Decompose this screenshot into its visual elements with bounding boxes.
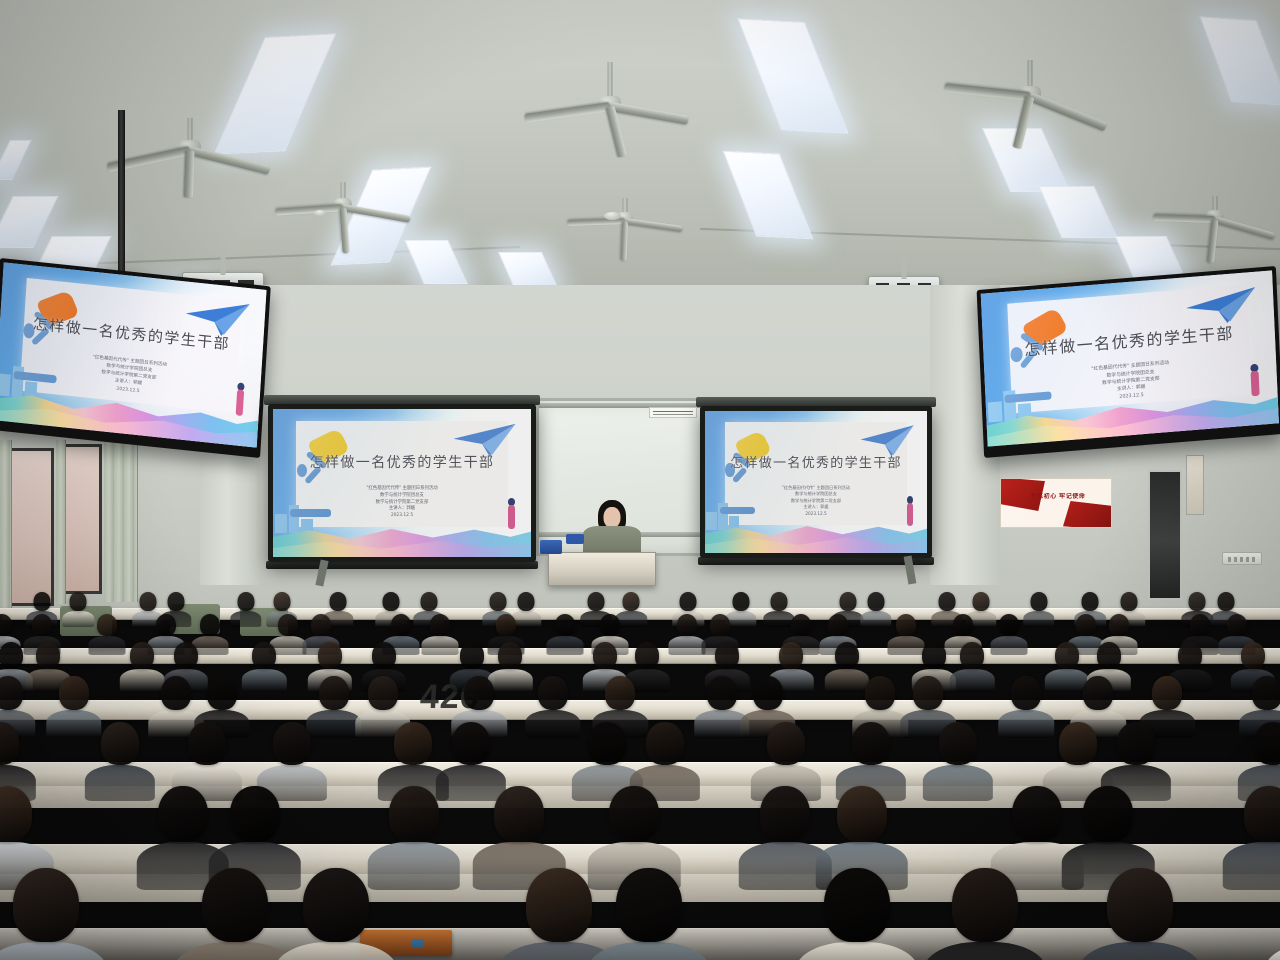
audience-shoulders	[230, 611, 261, 627]
audience-head	[273, 592, 290, 611]
audience-head	[1152, 676, 1182, 710]
audience-head	[139, 592, 156, 611]
audience-head	[1059, 722, 1097, 765]
audience-member	[669, 614, 706, 655]
audience-shoulders	[991, 636, 1028, 655]
audience-head	[0, 676, 23, 710]
audience-head	[97, 614, 117, 636]
audience-shoulders	[923, 765, 993, 801]
audience-head	[13, 868, 79, 942]
audience-head	[1012, 786, 1062, 842]
audience-head	[33, 592, 50, 611]
audience-head	[430, 614, 450, 636]
audience-head	[1011, 676, 1041, 710]
audience-member	[924, 868, 1046, 960]
audience-head	[867, 592, 884, 611]
audience-head	[616, 868, 682, 942]
audience-head	[538, 676, 568, 710]
audience-head	[278, 614, 298, 636]
audience-head	[1252, 676, 1280, 710]
audience-head	[1082, 592, 1099, 611]
audience-head	[0, 786, 32, 842]
audience-member	[588, 868, 710, 960]
audience-member	[991, 614, 1028, 655]
audience-head	[391, 614, 411, 636]
audience-head	[837, 786, 887, 842]
audience-head	[319, 676, 349, 710]
audience-head	[835, 642, 859, 669]
audience-head	[605, 676, 635, 710]
audience-shoulders	[1265, 942, 1280, 960]
audience-head	[202, 868, 268, 942]
audience-head	[952, 868, 1018, 942]
audience-head	[273, 722, 311, 765]
audience-head	[494, 786, 544, 842]
audience-member	[1079, 868, 1201, 960]
audience-head	[1109, 614, 1129, 636]
audience-head	[452, 722, 490, 765]
audience-head	[593, 642, 617, 669]
audience-head	[101, 722, 139, 765]
audience-head	[318, 642, 342, 669]
audience-head	[1076, 614, 1096, 636]
audience-head	[0, 642, 23, 669]
audience-head	[311, 614, 331, 636]
audience-head	[130, 642, 154, 669]
audience-shoulders	[950, 669, 994, 692]
audience-head	[158, 786, 208, 842]
audience-head	[972, 592, 989, 611]
audience-head	[372, 642, 396, 669]
audience-head	[1241, 642, 1265, 669]
audience-head	[420, 592, 437, 611]
audience-head	[174, 642, 198, 669]
audience-head	[771, 592, 788, 611]
audience-head	[0, 722, 19, 765]
audience-head	[1189, 592, 1206, 611]
audience-head	[680, 592, 697, 611]
audience-head	[161, 676, 191, 710]
audience-head	[238, 592, 255, 611]
audience-head	[1121, 592, 1138, 611]
audience-head	[588, 592, 605, 611]
audience-head	[609, 786, 659, 842]
audience-head	[1107, 868, 1173, 942]
audience-shoulders	[275, 942, 397, 960]
audience-head	[59, 676, 89, 710]
audience-head	[1254, 722, 1280, 765]
audience-head	[252, 642, 276, 669]
audience-head	[999, 614, 1019, 636]
audience-head	[517, 592, 534, 611]
audience-head	[824, 868, 890, 942]
audience-member	[923, 722, 993, 801]
audience-head	[1227, 614, 1247, 636]
audience-head	[779, 642, 803, 669]
audience-head	[496, 614, 516, 636]
audience-head	[953, 614, 973, 636]
audience-head	[635, 642, 659, 669]
audience-head	[588, 722, 626, 765]
audience-head	[188, 722, 226, 765]
audience-head	[938, 592, 955, 611]
audience-head	[939, 722, 977, 765]
audience-head	[1117, 722, 1155, 765]
audience-head	[303, 868, 369, 942]
audience-head	[1083, 786, 1133, 842]
audience-member	[950, 642, 994, 692]
audience-head	[167, 592, 184, 611]
audience-head	[464, 676, 494, 710]
audience-head	[460, 642, 484, 669]
audience-head	[677, 614, 697, 636]
audience-head	[1217, 592, 1234, 611]
audience-head	[70, 592, 87, 611]
audience-head	[710, 614, 730, 636]
audience-head	[200, 614, 220, 636]
audience-head	[1083, 676, 1113, 710]
audience-head	[383, 592, 400, 611]
audience-head	[1055, 642, 1079, 669]
audience-head	[767, 722, 805, 765]
audience-member	[230, 592, 261, 627]
audience-head	[760, 786, 810, 842]
audience-shoulders	[669, 636, 706, 655]
audience-head	[646, 722, 684, 765]
audience-head	[156, 614, 176, 636]
audience-head	[896, 614, 916, 636]
audience-head	[753, 676, 783, 710]
audience-head	[715, 642, 739, 669]
lecture-hall-photo: 不忘初心 牢记使命 怎样做一名优秀的学生干部 "红色基因代代传" 主题团日系列活…	[0, 0, 1280, 960]
audience-head	[1097, 642, 1121, 669]
audience-head	[394, 722, 432, 765]
audience-head	[1030, 592, 1047, 611]
audience-head	[329, 592, 346, 611]
audience-head	[922, 642, 946, 669]
audience-head	[0, 614, 12, 636]
audience-shoulders	[1079, 942, 1201, 960]
audience-member	[0, 868, 107, 960]
audience-member	[275, 868, 397, 960]
audience-head	[865, 676, 895, 710]
audience-head	[555, 614, 575, 636]
audience-head	[207, 676, 237, 710]
audience-shoulders	[588, 942, 710, 960]
audience-head	[1190, 614, 1210, 636]
audience-head	[732, 592, 749, 611]
audience-head	[368, 676, 398, 710]
audience-head	[498, 642, 522, 669]
audience-head	[600, 614, 620, 636]
audience-shoulders	[0, 942, 107, 960]
audience-shoulders	[546, 636, 583, 655]
audience-head	[828, 614, 848, 636]
audience-head	[707, 676, 737, 710]
audience-head	[389, 786, 439, 842]
audience-head	[839, 592, 856, 611]
audience-head	[36, 642, 60, 669]
audience-head	[526, 868, 592, 942]
audience-head	[623, 592, 640, 611]
audience-head	[32, 614, 52, 636]
audience-head	[230, 786, 280, 842]
audience-head	[1178, 642, 1202, 669]
audience-crowd	[0, 0, 1280, 960]
audience-head	[960, 642, 984, 669]
audience-head	[852, 722, 890, 765]
audience-member	[796, 868, 918, 960]
audience-member	[546, 614, 583, 655]
audience-head	[489, 592, 506, 611]
audience-shoulders	[796, 942, 918, 960]
audience-head	[791, 614, 811, 636]
audience-shoulders	[924, 942, 1046, 960]
audience-head	[1244, 786, 1280, 842]
audience-head	[913, 676, 943, 710]
audience-member	[1265, 868, 1280, 960]
